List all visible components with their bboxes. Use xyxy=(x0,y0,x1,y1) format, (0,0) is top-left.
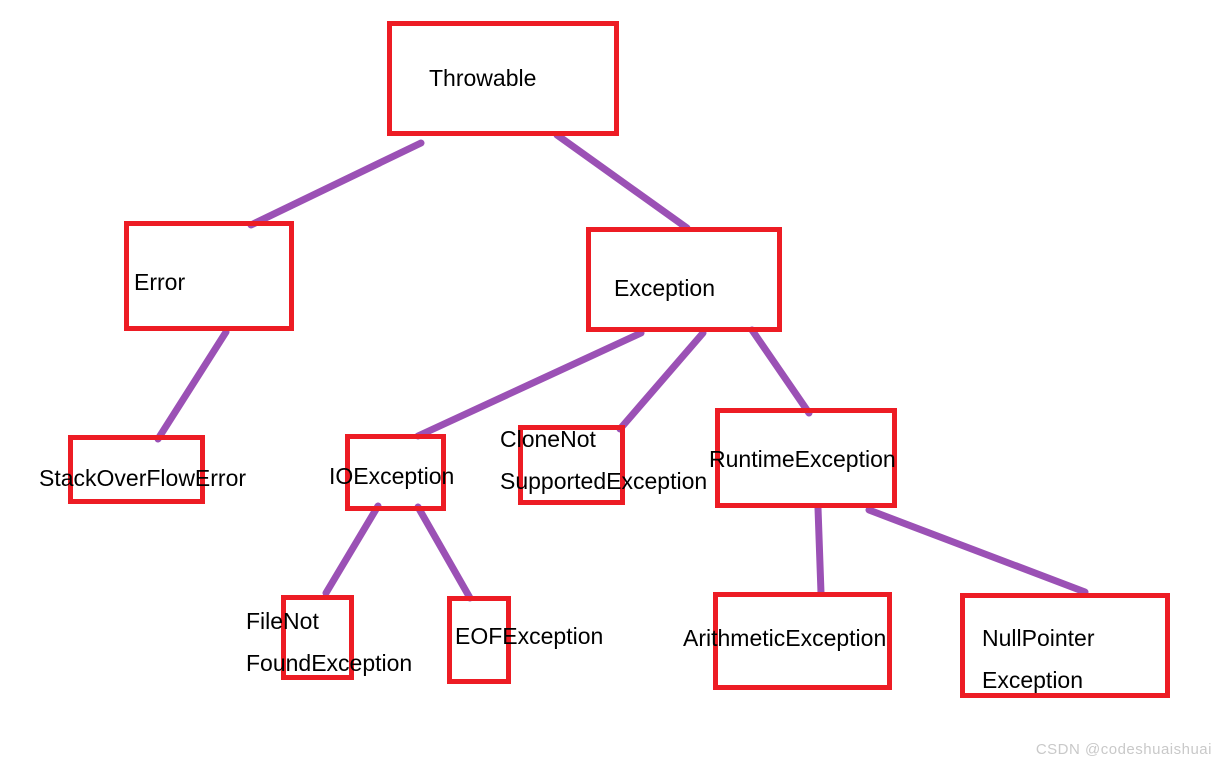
edge-ioexception-filenotfoundexception xyxy=(326,506,378,593)
node-label-arithmeticexception: ArithmeticException xyxy=(683,618,886,658)
node-label-clonenotsupportedexception: CloneNotSupportedException xyxy=(500,418,707,502)
edge-throwable-error xyxy=(251,143,421,225)
node-label-filenotfoundexception: FileNotFoundException xyxy=(246,600,412,684)
node-label-runtimeexception: RuntimeException xyxy=(709,439,896,479)
node-label-nullpointerexception: NullPointerException xyxy=(982,617,1095,701)
edge-ioexception-eofexception xyxy=(418,507,470,598)
node-label-ioexception: IOException xyxy=(329,456,454,496)
node-label-throwable: Throwable xyxy=(429,58,536,98)
node-label-error: Error xyxy=(134,262,185,302)
edge-exception-runtimeexception xyxy=(752,330,809,413)
edge-runtimeexception-arithmeticexception xyxy=(818,508,821,593)
edge-exception-clonenotsupportedexception xyxy=(620,333,703,429)
watermark: CSDN @codeshuaishuai xyxy=(1036,741,1212,758)
node-label-stackoverflowerror: StackOverFlowError xyxy=(39,458,246,498)
edge-throwable-exception xyxy=(557,135,687,228)
edge-error-stackoverflowerror xyxy=(158,332,226,439)
node-label-eofexception: EOFException xyxy=(455,616,603,656)
diagram-canvas: ThrowableErrorExceptionStackOverFlowErro… xyxy=(0,0,1230,770)
edge-runtimeexception-nullpointerexception xyxy=(869,510,1085,592)
node-label-exception: Exception xyxy=(614,268,715,308)
